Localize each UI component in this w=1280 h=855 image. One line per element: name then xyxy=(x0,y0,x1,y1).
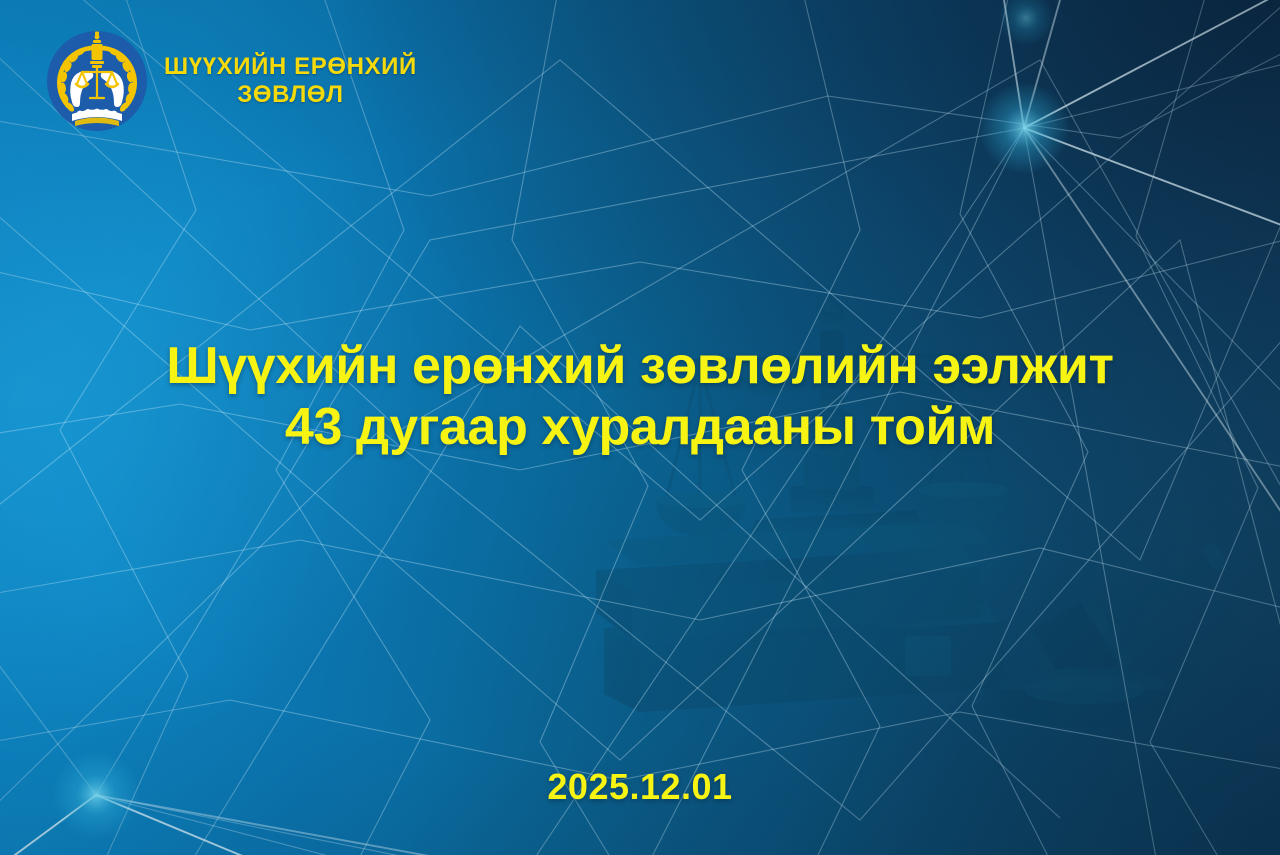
title-slide: ШҮҮХИЙН ЕРӨНХИЙ ЗӨВЛӨЛ Шүүхийн ерөнхий з… xyxy=(0,0,1280,855)
organization-logo: ШҮҮХИЙН ЕРӨНХИЙ ЗӨВЛӨЛ xyxy=(44,28,417,134)
slide-date: 2025.12.01 xyxy=(0,766,1280,808)
scales-of-justice-in-hands-wreath-emblem-icon xyxy=(44,28,150,134)
slide-title: Шүүхийн ерөнхий зөвлөлийн ээлжит 43 дуга… xyxy=(0,336,1280,459)
date-text: 2025.12.01 xyxy=(547,766,732,807)
slide-title-line-1: Шүүхийн ерөнхий зөвлөлийн ээлжит xyxy=(24,336,1256,397)
organization-name: ШҮҮХИЙН ЕРӨНХИЙ ЗӨВЛӨЛ xyxy=(164,53,417,109)
slide-title-line-2: 43 дугаар хуралдааны тойм xyxy=(24,397,1256,458)
